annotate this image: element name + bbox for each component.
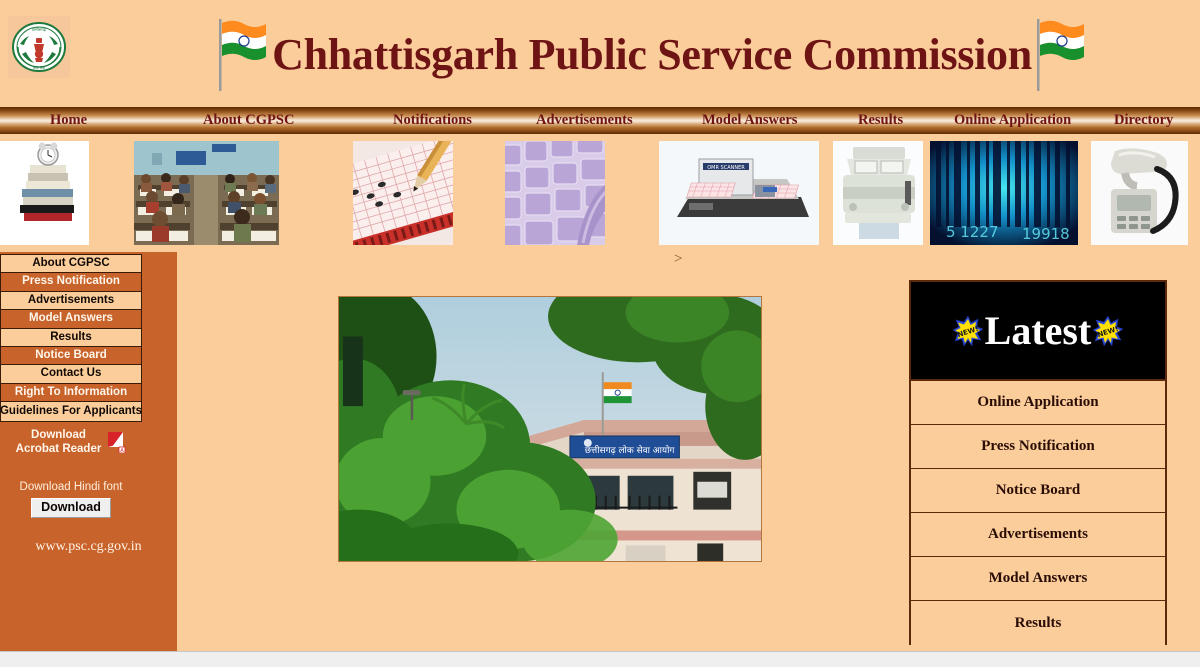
- main-navigation: Home About CGPSC Notifications Advertise…: [0, 107, 1200, 134]
- acrobat-line-2: Acrobat Reader: [16, 443, 102, 455]
- sidebar-item-about-cgpsc[interactable]: About CGPSC: [1, 255, 141, 273]
- title-banner: Chhattisgarh Public Service Commission: [232, 14, 1072, 96]
- download-acrobat-reader-link[interactable]: Download Acrobat Reader A: [0, 428, 142, 457]
- sidebar-item-results[interactable]: Results: [1, 329, 141, 347]
- nav-item-directory[interactable]: Directory: [1108, 113, 1179, 128]
- latest-item-online-application[interactable]: Online Application: [911, 381, 1165, 425]
- acrobat-line-1: Download: [31, 429, 86, 441]
- nav-item-notifications[interactable]: Notifications: [387, 113, 478, 128]
- sidebar-item-right-to-information[interactable]: Right To Information: [1, 384, 141, 402]
- nav-item-results[interactable]: Results: [852, 113, 909, 128]
- page-title: Chhattisgarh Public Service Commission: [270, 33, 1034, 77]
- svg-text:5 1227: 5 1227: [946, 223, 999, 241]
- nav-item-online-application[interactable]: Online Application: [948, 113, 1077, 128]
- latest-item-press-notification[interactable]: Press Notification: [911, 425, 1165, 469]
- latest-item-advertisements[interactable]: Advertisements: [911, 513, 1165, 557]
- hindi-font-label: Download Hindi font: [0, 482, 142, 494]
- sidebar-item-advertisements[interactable]: Advertisements: [1, 292, 141, 310]
- thumbnail-strip: OMR SCANNER: [0, 134, 1200, 252]
- left-sidebar: About CGPSC Press Notification Advertise…: [0, 252, 177, 651]
- indian-flag-left: [216, 17, 270, 93]
- barcode-reader-thumbnail: [1091, 141, 1188, 245]
- latest-panel-title: Latest: [985, 311, 1092, 351]
- sidebar-item-guidelines-for-applicants[interactable]: Guidelines For Applicants: [1, 402, 141, 420]
- sidebar-item-notice-board[interactable]: Notice Board: [1, 347, 141, 365]
- sidebar-item-model-answers[interactable]: Model Answers: [1, 310, 141, 328]
- download-hindi-font-button[interactable]: Download: [31, 498, 111, 519]
- svg-text:लोक सेवा: लोक सेवा: [33, 65, 45, 70]
- svg-text:19918: 19918: [1022, 225, 1070, 243]
- omr-sheet-pencil-thumbnail: [353, 141, 453, 245]
- new-badge-star-left-icon: NEW!: [953, 316, 983, 346]
- omr-scanner-machine-thumbnail: OMR SCANNER: [659, 141, 819, 245]
- indian-flag-right: [1034, 17, 1088, 93]
- sidebar-menu: About CGPSC Press Notification Advertise…: [0, 254, 142, 422]
- nav-item-about-cgpsc[interactable]: About CGPSC: [197, 113, 300, 128]
- acrobat-reader-icon: A: [107, 431, 126, 453]
- books-and-clock-thumbnail: [0, 141, 89, 245]
- exam-hall-students-thumbnail: [134, 141, 279, 245]
- latest-item-results[interactable]: Results: [911, 601, 1165, 645]
- svg-text:A: A: [121, 448, 125, 453]
- nav-item-advertisements[interactable]: Advertisements: [530, 113, 639, 128]
- new-badge-star-right-icon: NEW!: [1093, 316, 1123, 346]
- latest-item-notice-board[interactable]: Notice Board: [911, 469, 1165, 513]
- latest-panel: NEW! Latest NEW! Online Application Pres…: [909, 280, 1167, 645]
- barcode-thumbnail: 5 1227 19918: [930, 141, 1078, 245]
- document-scanner-thumbnail: [833, 141, 923, 245]
- cgpsc-office-building-photo: छत्तीसगढ़ लोक सेवा आयोग: [338, 296, 762, 562]
- keyboard-closeup-thumbnail: [505, 141, 605, 245]
- sidebar-item-press-notification[interactable]: Press Notification: [1, 273, 141, 291]
- acrobat-reader-label: Download Acrobat Reader: [16, 428, 102, 457]
- chhattisgarh-state-emblem: छत्तीसगढ़ लोक सेवा: [8, 16, 70, 78]
- nav-item-home[interactable]: Home: [44, 113, 93, 128]
- svg-text:छत्तीसगढ़: छत्तीसगढ़: [32, 27, 47, 32]
- svg-text:छत्तीसगढ़ लोक सेवा आयोग: छत्तीसगढ़ लोक सेवा आयोग: [585, 444, 676, 456]
- latest-panel-header: NEW! Latest NEW!: [911, 282, 1165, 381]
- site-url-link[interactable]: www.psc.cg.gov.in: [0, 540, 177, 554]
- nav-item-model-answers[interactable]: Model Answers: [696, 113, 803, 128]
- page-header: छत्तीसगढ़ लोक सेवा Chhattisgarh Public S…: [0, 0, 1200, 107]
- svg-text:OMR SCANNER: OMR SCANNER: [707, 165, 745, 171]
- sidebar-item-contact-us[interactable]: Contact Us: [1, 365, 141, 383]
- horizontal-scrollbar-area[interactable]: [0, 651, 1200, 667]
- latest-item-model-answers[interactable]: Model Answers: [911, 557, 1165, 601]
- cgpsc-homepage: छत्तीसगढ़ लोक सेवा Chhattisgarh Public S…: [0, 0, 1200, 667]
- hindi-font-download-block: Download Hindi font Download: [0, 482, 142, 518]
- arrow-marker: >: [674, 252, 682, 267]
